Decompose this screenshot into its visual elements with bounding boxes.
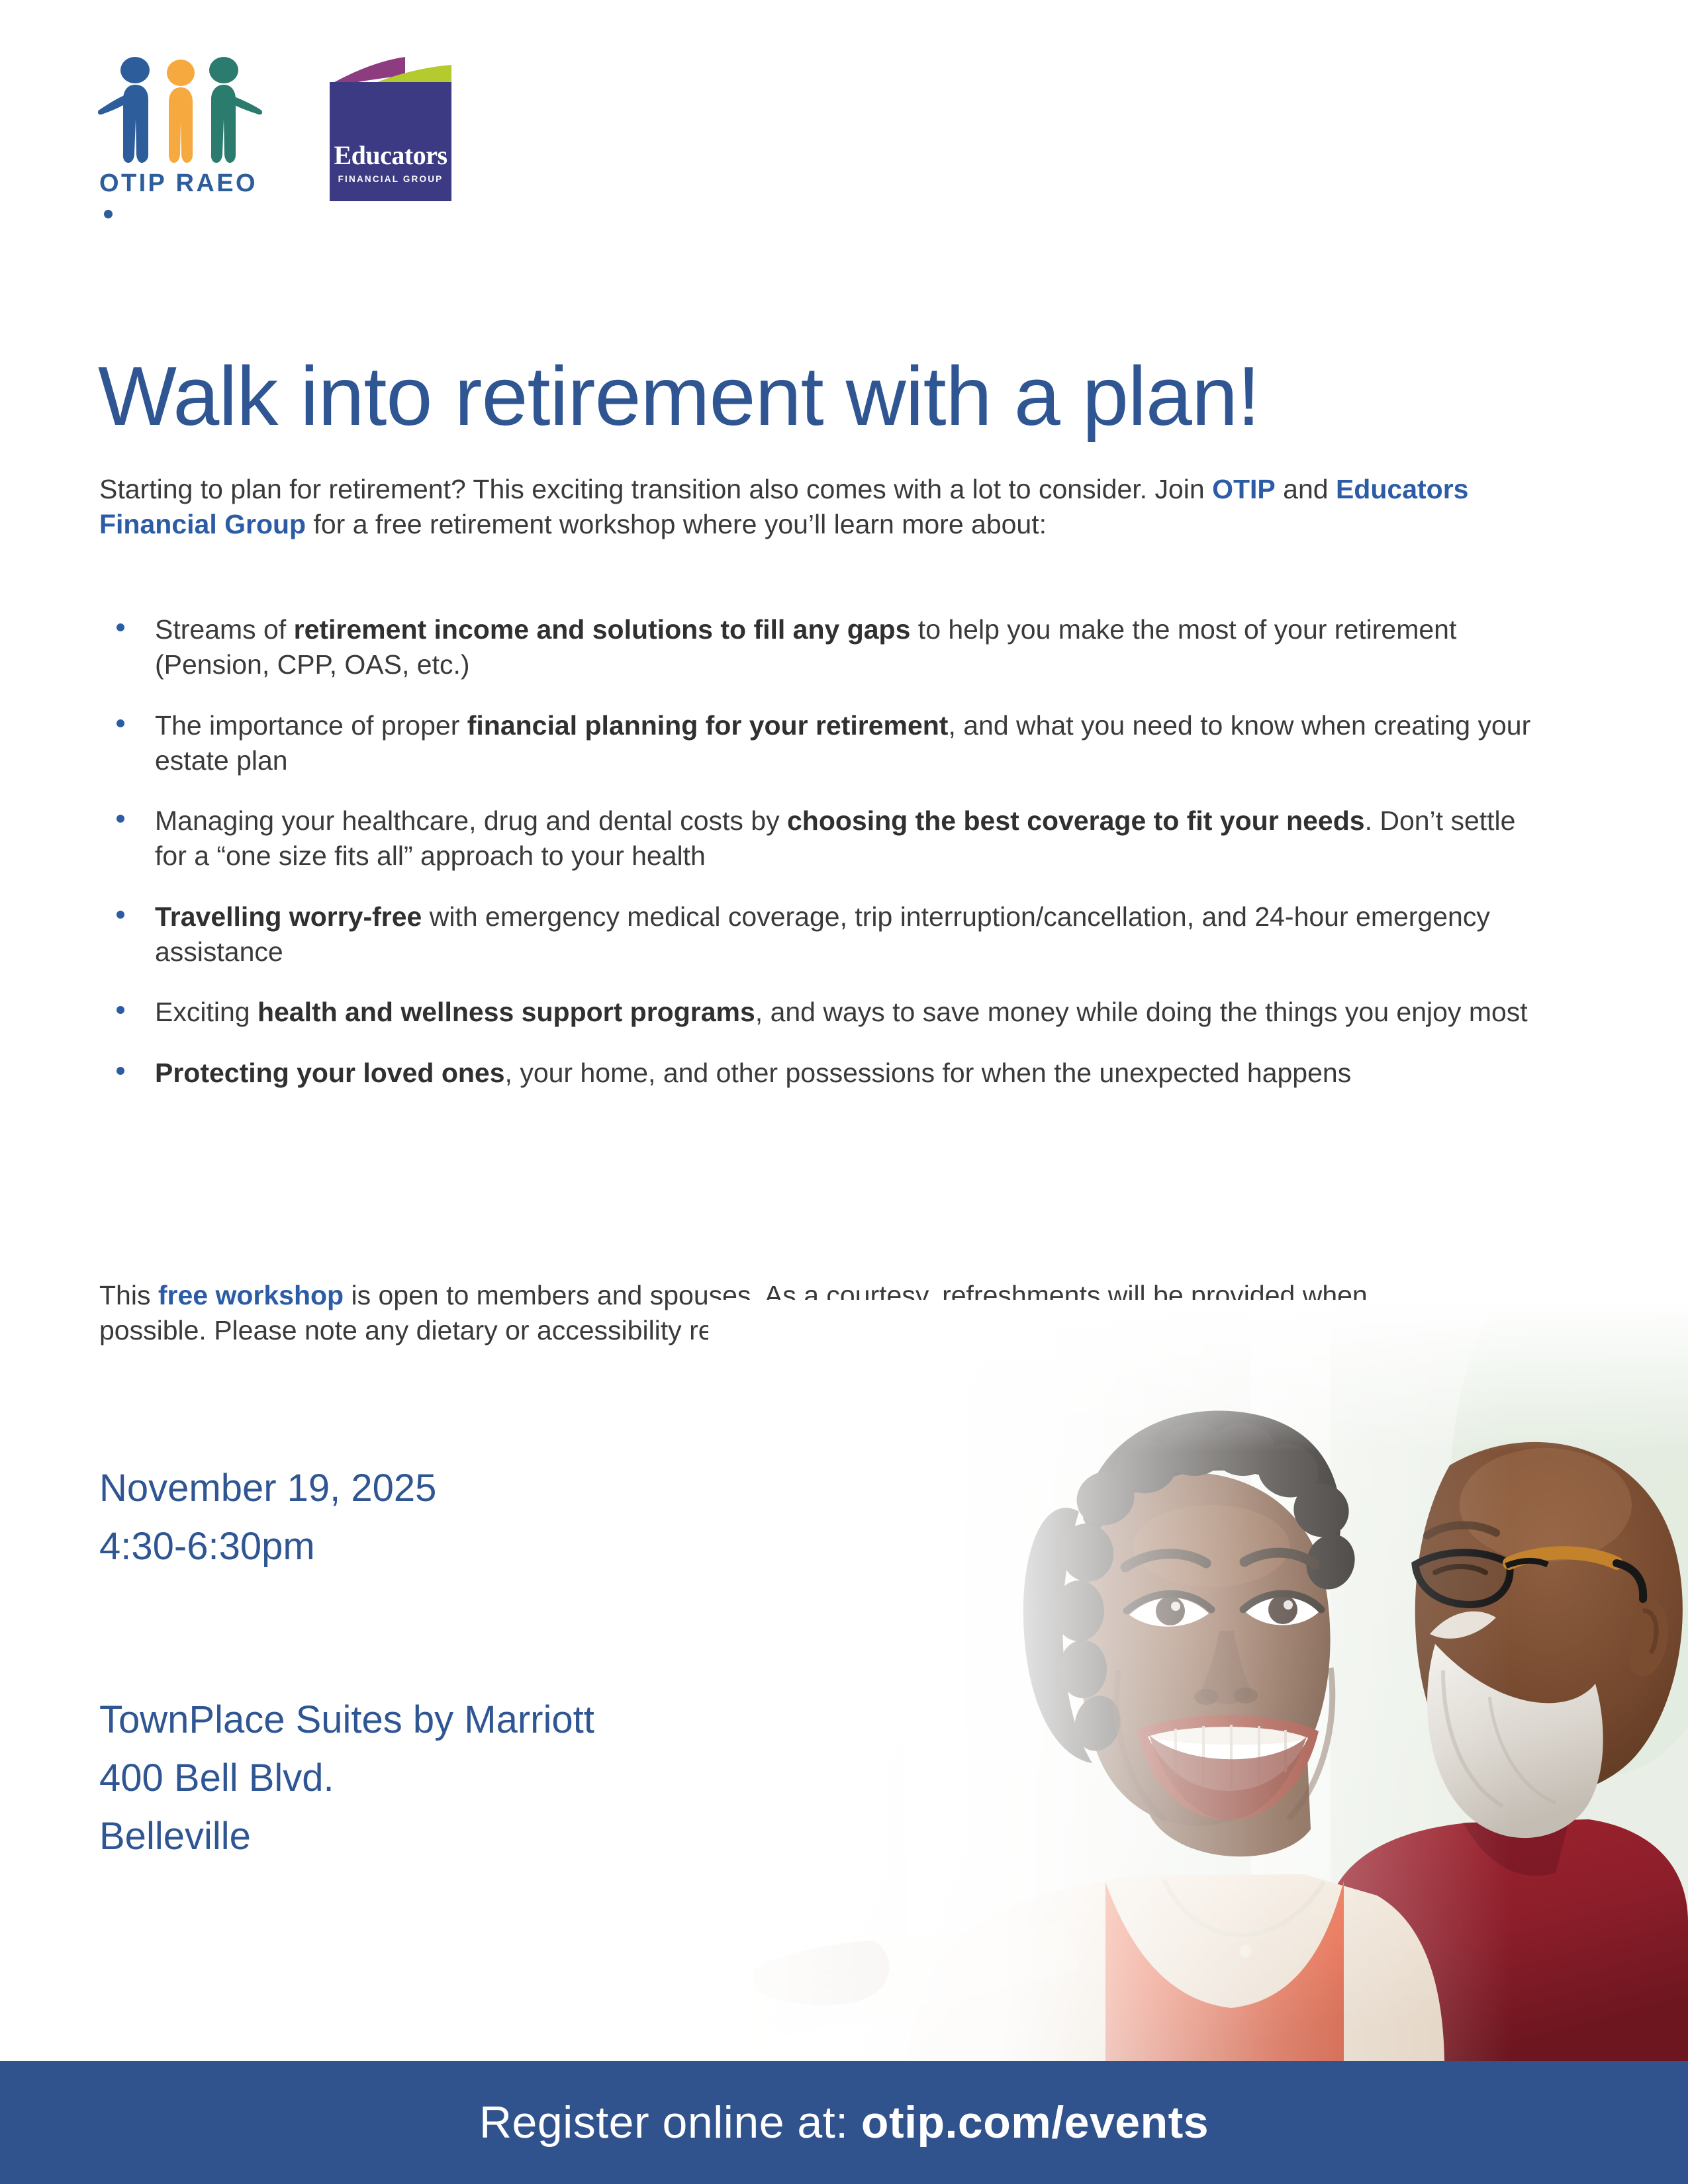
register-url[interactable]: otip.com/events xyxy=(861,2097,1209,2148)
bullet-bold: Protecting your loved ones xyxy=(155,1058,505,1088)
list-item: Exciting health and wellness support pro… xyxy=(99,995,1542,1030)
bullet-bold: retirement income and solutions to fill … xyxy=(294,614,911,645)
intro-part1: Starting to plan for retirement? This ex… xyxy=(99,474,1212,504)
closing-free-workshop: free workshop xyxy=(158,1280,344,1310)
benefits-list: Streams of retirement income and solutio… xyxy=(99,612,1542,1116)
list-item: Travelling worry-free with emergency med… xyxy=(99,899,1542,970)
register-cta: Register online at: otip.com/events xyxy=(479,2097,1209,2148)
bullet-dot-icon xyxy=(117,719,124,727)
register-cta-prefix: Register online at: xyxy=(479,2097,861,2148)
list-item: The importance of proper financial plann… xyxy=(99,708,1542,779)
event-datetime: November 19, 2025 4:30-6:30pm xyxy=(99,1459,436,1576)
bullet-bold: financial planning for your retirement xyxy=(467,710,949,741)
couple-photo xyxy=(708,1300,1688,2061)
bullet-dot-icon xyxy=(117,1067,124,1075)
bullet-post: , your home, and other possessions for w… xyxy=(505,1058,1352,1088)
flyer-page: OTIP RAEO Educators FINANCIAL GROUP Walk… xyxy=(0,0,1688,2184)
bullet-pre: Exciting xyxy=(155,997,258,1027)
intro-paragraph: Starting to plan for retirement? This ex… xyxy=(99,472,1523,543)
event-location: TownPlace Suites by Marriott 400 Bell Bl… xyxy=(99,1691,594,1866)
otip-figures-icon xyxy=(98,56,263,167)
event-street: 400 Bell Blvd. xyxy=(99,1749,594,1807)
bullet-bold: Travelling worry-free xyxy=(155,901,422,932)
educators-financial-group-logo: Educators FINANCIAL GROUP xyxy=(327,56,454,206)
bullet-pre: Managing your healthcare, drug and denta… xyxy=(155,805,787,836)
educators-square: Educators FINANCIAL GROUP xyxy=(330,82,451,201)
otip-wordmark: OTIP RAEO xyxy=(99,169,263,226)
bullet-pre: The importance of proper xyxy=(155,710,467,741)
event-time: 4:30-6:30pm xyxy=(99,1518,436,1576)
event-date: November 19, 2025 xyxy=(99,1459,436,1518)
bullet-post: , and ways to save money while doing the… xyxy=(755,997,1528,1027)
bullet-dot-icon xyxy=(117,623,124,631)
list-item: Protecting your loved ones, your home, a… xyxy=(99,1056,1542,1091)
page-title: Walk into retirement with a plan! xyxy=(98,355,1594,438)
bullet-bold: choosing the best coverage to fit your n… xyxy=(787,805,1365,836)
intro-part3: for a free retirement workshop where you… xyxy=(306,509,1047,539)
list-item: Managing your healthcare, drug and denta… xyxy=(99,803,1542,874)
footer-banner: Register online at: otip.com/events xyxy=(0,2061,1688,2184)
list-item: Streams of retirement income and solutio… xyxy=(99,612,1542,683)
educators-subtitle: FINANCIAL GROUP xyxy=(330,174,451,184)
otip-dot-icon xyxy=(104,210,113,218)
bullet-dot-icon xyxy=(117,1006,124,1014)
bullet-bold: health and wellness support programs xyxy=(258,997,755,1027)
logo-row: OTIP RAEO Educators FINANCIAL GROUP xyxy=(98,48,454,206)
bullet-pre: Streams of xyxy=(155,614,294,645)
intro-part2: and xyxy=(1276,474,1336,504)
otip-logo: OTIP RAEO xyxy=(98,56,263,206)
educators-name: Educators xyxy=(330,140,451,171)
closing-part1: This xyxy=(99,1280,158,1310)
otip-wordmark-text: OTIP RAEO xyxy=(99,169,258,197)
event-venue: TownPlace Suites by Marriott xyxy=(99,1691,594,1749)
intro-brand-otip: OTIP xyxy=(1212,474,1276,504)
event-city: Belleville xyxy=(99,1807,594,1866)
bullet-dot-icon xyxy=(117,815,124,823)
bullet-dot-icon xyxy=(117,911,124,919)
